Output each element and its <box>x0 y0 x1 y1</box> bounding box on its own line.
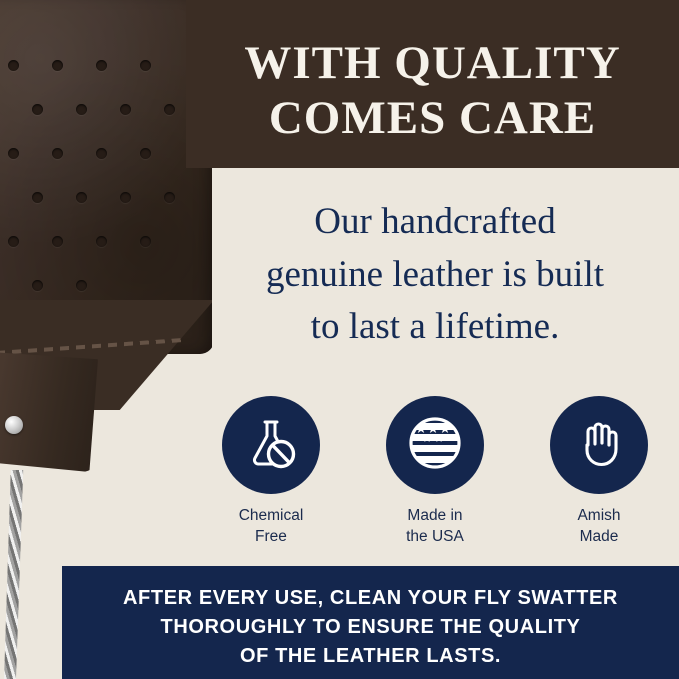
paddle-hole <box>32 104 43 115</box>
badge-label-line-1: Chemical <box>239 506 304 527</box>
paddle-hole <box>164 104 175 115</box>
product-infographic: WITH QUALITY COMES CARE Our handcrafted … <box>0 0 679 679</box>
paddle-hole <box>140 148 151 159</box>
paddle-hole <box>140 60 151 71</box>
badge-circle <box>386 396 484 494</box>
paddle-hole <box>96 60 107 71</box>
body-copy-line-2: genuine leather is built <box>200 249 670 302</box>
badge-label-line-2: Made <box>577 527 620 548</box>
footer-band: AFTER EVERY USE, CLEAN YOUR FLY SWATTER … <box>62 566 679 679</box>
leather-handle-cuff <box>0 352 98 472</box>
open-hand-icon <box>571 415 627 476</box>
badge-amish-made: Amish Made <box>524 396 674 548</box>
paddle-hole <box>32 280 43 291</box>
paddle-hole <box>76 192 87 203</box>
header-band: WITH QUALITY COMES CARE <box>186 0 679 168</box>
feature-badges: Chemical Free <box>196 396 674 548</box>
paddle-hole <box>52 60 63 71</box>
care-instructions: AFTER EVERY USE, CLEAN YOUR FLY SWATTER … <box>76 584 665 671</box>
paddle-hole <box>8 60 19 71</box>
badge-label: Made in the USA <box>406 506 464 548</box>
paddle-hole <box>120 192 131 203</box>
badge-label: Chemical Free <box>239 506 304 548</box>
paddle-hole <box>8 236 19 247</box>
badge-chemical-free: Chemical Free <box>196 396 346 548</box>
body-copy: Our handcrafted genuine leather is built… <box>200 196 670 354</box>
metal-rivet <box>5 416 23 434</box>
headline-line-1: WITH QUALITY <box>244 37 620 89</box>
badge-label-line-2: the USA <box>406 527 464 548</box>
badge-label: Amish Made <box>577 506 620 548</box>
badge-label-line-2: Free <box>239 527 304 548</box>
badge-label-line-1: Made in <box>406 506 464 527</box>
paddle-hole <box>96 236 107 247</box>
headline-line-2: COMES CARE <box>186 91 679 146</box>
twisted-wire-handle <box>4 470 30 679</box>
badge-label-line-1: Amish <box>577 506 620 527</box>
paddle-hole <box>52 148 63 159</box>
paddle-hole <box>96 148 107 159</box>
body-copy-line-1: Our handcrafted <box>200 196 670 249</box>
usa-flag-shield-icon <box>405 413 465 478</box>
care-instructions-line-3: OF THE LEATHER LASTS. <box>76 642 665 671</box>
badge-made-in-the-usa: Made in the USA <box>360 396 510 548</box>
care-instructions-line-2: THOROUGHLY TO ENSURE THE QUALITY <box>76 613 665 642</box>
headline: WITH QUALITY COMES CARE <box>186 36 679 147</box>
care-instructions-line-1: AFTER EVERY USE, CLEAN YOUR FLY SWATTER <box>76 584 665 613</box>
badge-circle <box>222 396 320 494</box>
paddle-hole <box>76 104 87 115</box>
paddle-hole <box>32 192 43 203</box>
flask-no-chemicals-icon <box>242 414 300 477</box>
paddle-hole <box>140 236 151 247</box>
paddle-hole <box>52 236 63 247</box>
body-copy-line-3: to last a lifetime. <box>200 301 670 354</box>
badge-circle <box>550 396 648 494</box>
paddle-hole <box>76 280 87 291</box>
paddle-hole <box>164 192 175 203</box>
paddle-hole <box>120 104 131 115</box>
paddle-hole <box>8 148 19 159</box>
